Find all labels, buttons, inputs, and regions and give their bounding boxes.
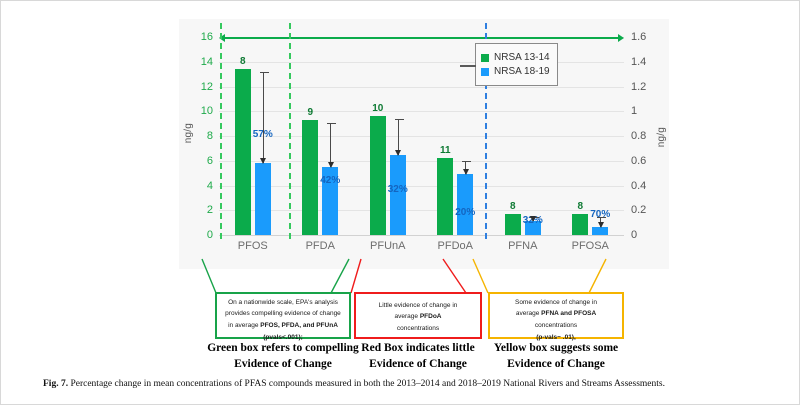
bar-group-pfos: PFOS857% <box>219 37 287 235</box>
plot-inner: 0020.240.460.680.8101121.2141.4161.6PFOS… <box>219 37 624 235</box>
figure-caption-text: Percentage change in mean concentrations… <box>70 379 665 389</box>
change-drop-arrow <box>465 161 466 173</box>
figure-caption: Fig. 7. Percentage change in mean concen… <box>43 378 763 390</box>
bar-rank-label: 11 <box>440 145 451 156</box>
bar-nrsa-13-14-pfda[interactable]: 9 <box>302 120 318 235</box>
y-axis-tick-left: 16 <box>201 31 213 43</box>
chart-plot-area: ng/g ng/g 0020.240.460.680.8101121.2141.… <box>179 19 669 269</box>
drop-arrow-head <box>598 222 604 228</box>
change-drop-arrow <box>330 123 331 167</box>
bar-nrsa-18-19-pfos[interactable]: 57% <box>255 163 271 235</box>
bar-group-pfda: PFDA942% <box>287 37 355 235</box>
legend-item-nrsa-13-14: NRSA 13-14 <box>481 52 550 63</box>
bar-nrsa-18-19-pfda[interactable]: 42% <box>322 167 338 235</box>
chart-legend: NRSA 13-14 NRSA 18-19 <box>475 43 558 86</box>
callout-box-yellow: Some evidence of change in average PFNA … <box>488 292 624 339</box>
bar-percent-label: 32% <box>388 184 408 195</box>
callout-red-line2: average PFDoA <box>361 312 475 321</box>
drop-arrow-cap <box>597 217 606 218</box>
bar-nrsa-13-14-pfuna[interactable]: 10 <box>370 116 386 235</box>
right-axis-title: ng/g <box>656 127 667 147</box>
change-drop-arrow <box>600 217 601 227</box>
bar-group-pfosa: PFOSA870% <box>557 37 625 235</box>
legend-label-nrsa-13-14: NRSA 13-14 <box>494 52 550 63</box>
bar-rank-label: 8 <box>240 56 246 67</box>
callout-yellow-line2: average PFNA and PFOSA <box>495 309 617 318</box>
callout-caption-red-line1: Red Box indicates little <box>353 341 483 357</box>
bar-nrsa-13-14-pfna[interactable]: 8 <box>505 214 521 235</box>
callout-box-red: Little evidence of change in average PFD… <box>354 292 482 339</box>
legend-item-nrsa-18-19: NRSA 18-19 <box>481 66 550 77</box>
drop-arrow-head <box>530 216 536 222</box>
figure-container: ng/g ng/g 0020.240.460.680.8101121.2141.… <box>1 1 799 404</box>
bar-rank-label: 8 <box>577 201 583 212</box>
x-axis-label-pfna: PFNA <box>508 240 537 252</box>
y-axis-tick-right: 1.2 <box>631 81 646 93</box>
bar-rank-label: 10 <box>372 103 383 114</box>
figure-number: Fig. 7. <box>43 379 68 389</box>
callout-green-line1: On a nationwide scale, EPA's analysis <box>222 298 344 307</box>
x-axis-label-pfosa: PFOSA <box>572 240 609 252</box>
y-axis-tick-left: 8 <box>207 130 213 142</box>
y-axis-tick-left: 4 <box>207 180 213 192</box>
legend-swatch-blue <box>481 68 489 76</box>
callout-caption-red-line2: Evidence of Change <box>353 357 483 373</box>
callout-box-green: On a nationwide scale, EPA's analysis pr… <box>215 292 351 339</box>
bar-group-pfuna: PFUnA1032% <box>354 37 422 235</box>
x-axis-label-pfos: PFOS <box>238 240 268 252</box>
callout-green-line2: provides compelling evidence of change <box>222 309 344 318</box>
y-axis-tick-right: 1.4 <box>631 56 646 68</box>
callout-caption-green: Green box refers to compelling Evidence … <box>187 341 379 372</box>
legend-stem <box>460 65 476 67</box>
bar-rank-label: 9 <box>307 107 313 118</box>
callout-caption-green-line1: Green box refers to compelling <box>187 341 379 357</box>
y-axis-tick-right: 0.4 <box>631 180 646 192</box>
bar-nrsa-13-14-pfdoa[interactable]: 11 <box>437 158 453 235</box>
y-axis-tick-right: 0.2 <box>631 204 646 216</box>
drop-arrow-head <box>328 162 334 168</box>
bar-nrsa-18-19-pfuna[interactable]: 32% <box>390 155 406 235</box>
left-axis-title: ng/g <box>183 123 194 143</box>
drop-arrow-cap <box>395 119 404 120</box>
change-drop-arrow <box>533 217 534 221</box>
bar-nrsa-13-14-pfosa[interactable]: 8 <box>572 214 588 235</box>
drop-arrow-head <box>463 169 469 175</box>
x-axis-label-pfda: PFDA <box>306 240 335 252</box>
callout-caption-green-line2: Evidence of Change <box>187 357 379 373</box>
bar-nrsa-13-14-pfos[interactable]: 8 <box>235 69 251 235</box>
drop-arrow-cap <box>462 161 471 162</box>
y-axis-tick-right: 1.6 <box>631 31 646 43</box>
x-axis-label-pfuna: PFUnA <box>370 240 405 252</box>
callout-red-line3: concentrations <box>361 324 475 333</box>
bar-percent-label: 20% <box>455 207 475 218</box>
callout-caption-yellow: Yellow box suggests some Evidence of Cha… <box>489 341 623 372</box>
change-drop-arrow <box>263 72 264 162</box>
bar-rank-label: 8 <box>510 201 516 212</box>
drop-arrow-head <box>395 150 401 156</box>
bar-nrsa-18-19-pfdoa[interactable]: 20% <box>457 174 473 235</box>
callout-caption-yellow-line2: Evidence of Change <box>489 357 623 373</box>
y-axis-tick-left: 0 <box>207 229 213 241</box>
callout-yellow-line1: Some evidence of change in <box>495 298 617 307</box>
bar-percent-label: 42% <box>320 175 340 186</box>
y-axis-tick-right: 1 <box>631 105 637 117</box>
drop-arrow-cap <box>260 72 269 73</box>
callout-caption-yellow-line1: Yellow box suggests some <box>489 341 623 357</box>
y-axis-tick-right: 0 <box>631 229 637 241</box>
x-axis-label-pfdoa: PFDoA <box>438 240 473 252</box>
callout-red-line1: Little evidence of change in <box>361 301 475 310</box>
y-axis-tick-right: 0.8 <box>631 130 646 142</box>
bar-nrsa-18-19-pfosa[interactable]: 70% <box>592 227 608 235</box>
bar-nrsa-18-19-pfna[interactable]: 32% <box>525 221 541 235</box>
y-axis-tick-left: 10 <box>201 105 213 117</box>
legend-swatch-green <box>481 54 489 62</box>
y-axis-tick-left: 6 <box>207 155 213 167</box>
callout-yellow-line3: concentrations <box>495 321 617 330</box>
gridline <box>219 235 624 236</box>
callout-caption-red: Red Box indicates little Evidence of Cha… <box>353 341 483 372</box>
legend-label-nrsa-18-19: NRSA 18-19 <box>494 66 550 77</box>
y-axis-tick-left: 2 <box>207 204 213 216</box>
drop-arrow-head <box>260 158 266 164</box>
y-axis-tick-right: 0.6 <box>631 155 646 167</box>
callout-green-line3: in average PFOS, PFDA, and PFUnA <box>222 321 344 330</box>
change-drop-arrow <box>398 119 399 154</box>
y-axis-tick-left: 14 <box>201 56 213 68</box>
drop-arrow-cap <box>327 123 336 124</box>
y-axis-tick-left: 12 <box>201 81 213 93</box>
